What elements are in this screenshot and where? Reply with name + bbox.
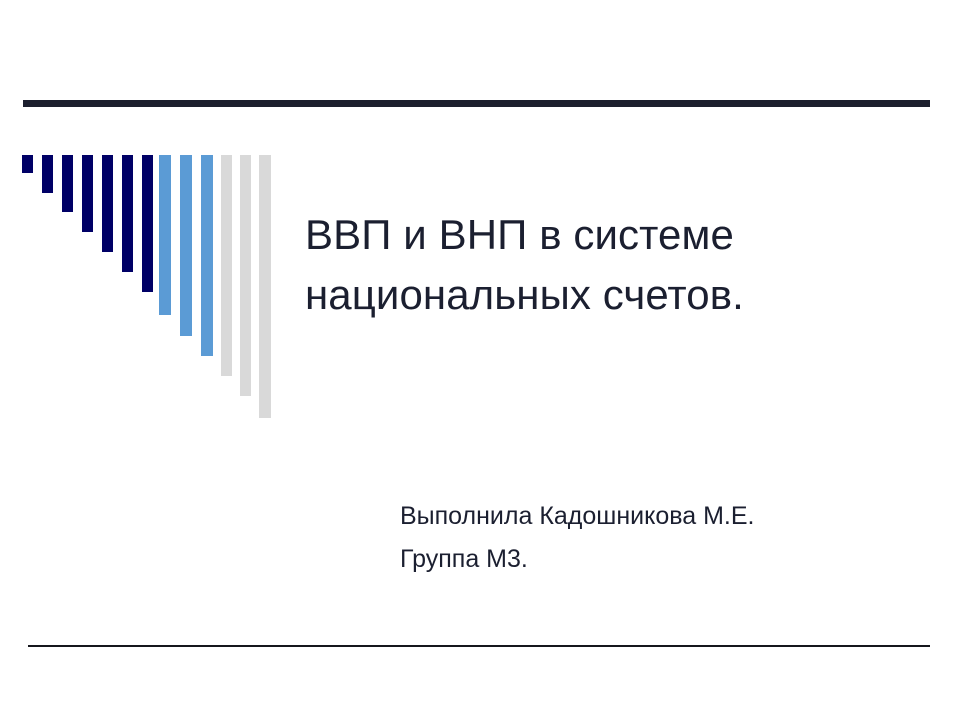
presentation-slide: ВВП и ВНП в системе национальных счетов.… (0, 0, 960, 720)
decorative-bar (201, 155, 213, 356)
subtitle-author: Выполнила Кадошникова М.Е. (400, 495, 920, 538)
decorative-bars-graphic (0, 0, 300, 440)
decorative-bar (122, 155, 133, 272)
subtitle-group: Группа М3. (400, 538, 920, 581)
decorative-bar (142, 155, 153, 292)
decorative-bar (180, 155, 192, 336)
decorative-bar (259, 155, 271, 418)
decorative-bar (221, 155, 232, 376)
slide-title-line-1: ВВП и ВНП в системе (305, 205, 905, 265)
decorative-bar (240, 155, 251, 396)
decorative-bar (159, 155, 171, 315)
decorative-bar (82, 155, 93, 232)
slide-title-line-2: национальных счетов. (305, 265, 905, 325)
decorative-bar (22, 155, 33, 173)
slide-subtitle: Выполнила Кадошникова М.Е. Группа М3. (400, 495, 920, 582)
decorative-bar (62, 155, 73, 212)
decorative-bar (102, 155, 113, 252)
bottom-rule-divider (28, 645, 930, 647)
slide-title: ВВП и ВНП в системе национальных счетов. (305, 205, 905, 324)
decorative-bar (42, 155, 53, 193)
